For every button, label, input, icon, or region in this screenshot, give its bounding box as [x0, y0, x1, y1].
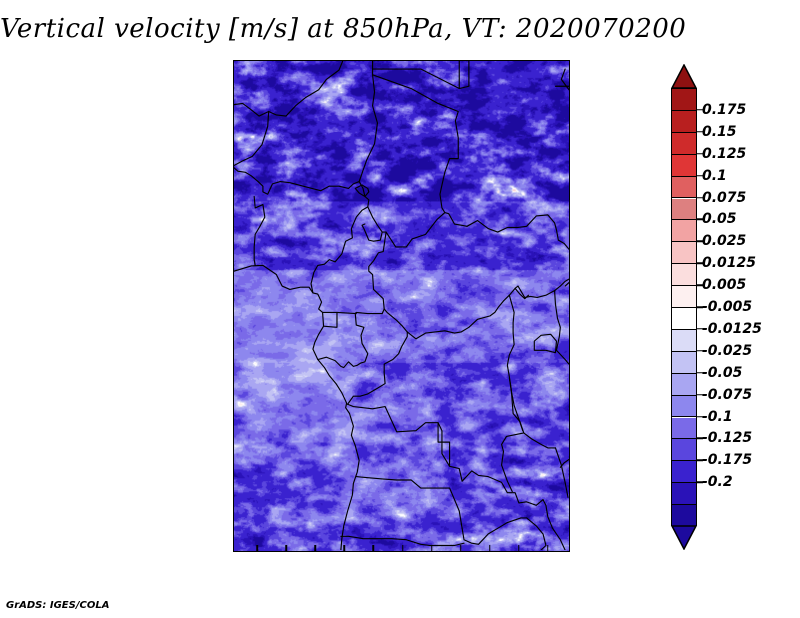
colorbar-tick-label: -0.175 — [702, 452, 752, 468]
colorbar-tick-label: -0.0125 — [702, 321, 762, 337]
colorbar-segment — [672, 220, 696, 242]
lon-tick-mark — [518, 545, 520, 551]
colorbar-segment — [672, 89, 696, 111]
lon-tick-mark — [431, 545, 433, 551]
colorbar-tick-label: 0.15 — [702, 124, 737, 140]
colorbar-tick-mark — [697, 438, 703, 440]
lat-tick-mark — [233, 340, 234, 342]
colorbar-tick-label: -0.075 — [702, 387, 752, 403]
colorbar-tick-label: 0.125 — [702, 146, 746, 162]
lon-tick-mark — [344, 545, 346, 551]
colorbar-segment — [672, 308, 696, 330]
colorbar-segment — [672, 374, 696, 396]
lat-tick-mark — [233, 513, 234, 515]
colorbar: 0.1750.150.1250.10.0750.050.0250.01250.0… — [671, 64, 697, 550]
lon-tick-label: 33E — [534, 551, 562, 552]
grads-plot-window: Vertical velocity [m/s] at 850hPa, VT: 2… — [0, 0, 800, 618]
colorbar-tick-mark — [697, 241, 703, 243]
colorbar-segment — [672, 155, 696, 177]
lat-tick-mark — [233, 282, 234, 284]
colorbar-segment — [672, 439, 696, 461]
colorbar-tick-mark — [697, 416, 703, 418]
lon-tick-label: 24E — [447, 551, 475, 552]
colorbar-segment — [672, 286, 696, 308]
colorbar-tick-label: 0.005 — [702, 277, 746, 293]
lat-tick-mark — [233, 109, 234, 111]
colorbar-tick-mark — [697, 394, 703, 396]
colorbar-tick-label: -0.025 — [702, 343, 752, 359]
colorbar-segments — [671, 88, 697, 526]
colorbar-tick-label: -0.05 — [702, 365, 742, 381]
colorbar-tick-mark — [697, 481, 703, 483]
colorbar-tick-label: 0.175 — [702, 102, 746, 118]
colorbar-segment — [672, 418, 696, 440]
lat-tick-mark — [233, 224, 234, 226]
colorbar-tick-mark — [697, 109, 703, 111]
colorbar-tick-mark — [697, 350, 703, 352]
footer-credit: GrADS: IGES/COLA — [6, 600, 109, 611]
lat-tick-mark — [233, 455, 234, 457]
colorbar-segment — [672, 111, 696, 133]
colorbar-tick-mark — [697, 372, 703, 374]
colorbar-segment — [672, 242, 696, 264]
lon-tick-label: 30E — [505, 551, 533, 552]
colorbar-segment — [672, 352, 696, 374]
colorbar-segment — [672, 264, 696, 286]
lon-tick-label: 12E — [330, 551, 358, 552]
lon-tick-label: 3E — [248, 551, 267, 552]
colorbar-bottom-arrow-icon — [671, 525, 697, 550]
lon-tick-label: 6E — [277, 551, 296, 552]
lon-tick-mark — [460, 545, 462, 551]
lat-tick-mark — [233, 167, 234, 169]
colorbar-tick-mark — [697, 175, 703, 177]
colorbar-tick-mark — [697, 306, 703, 308]
colorbar-tick-mark — [697, 197, 703, 199]
colorbar-segment — [672, 330, 696, 352]
colorbar-tick-mark — [697, 284, 703, 286]
colorbar-tick-label: -0.125 — [702, 430, 752, 446]
colorbar-tick-label: 0.0125 — [702, 255, 756, 271]
map-plot-area: 20N15N10N5NEQ5S10S15S3E6E9E12E15E18E21E2… — [233, 60, 570, 552]
colorbar-tick-label: 0.075 — [702, 190, 746, 206]
lon-tick-label: 9E — [306, 551, 325, 552]
colorbar-segment — [672, 177, 696, 199]
colorbar-tick-mark — [697, 153, 703, 155]
colorbar-top-arrow-icon — [671, 64, 697, 89]
colorbar-tick-mark — [697, 262, 703, 264]
colorbar-segment — [672, 505, 696, 527]
colorbar-tick-label: 0.025 — [702, 233, 746, 249]
colorbar-tick-label: 0.1 — [702, 168, 727, 184]
lon-tick-label: 18E — [389, 551, 417, 552]
lon-tick-mark — [402, 545, 404, 551]
lon-tick-mark — [489, 545, 491, 551]
colorbar-segment — [672, 483, 696, 505]
country-borders-overlay — [234, 61, 569, 550]
colorbar-segment — [672, 461, 696, 483]
lat-tick-mark — [233, 397, 234, 399]
colorbar-tick-mark — [697, 131, 703, 133]
colorbar-tick-label: -0.2 — [702, 474, 733, 490]
lon-tick-mark — [547, 545, 549, 551]
colorbar-segment — [672, 133, 696, 155]
colorbar-tick-label: 0.05 — [702, 211, 737, 227]
lon-tick-label: 15E — [359, 551, 387, 552]
lon-tick-label: 21E — [418, 551, 446, 552]
lon-tick-label: 27E — [476, 551, 504, 552]
colorbar-tick-label: -0.005 — [702, 299, 752, 315]
colorbar-tick-mark — [697, 328, 703, 330]
lon-tick-mark — [373, 545, 375, 551]
lon-tick-mark — [256, 545, 258, 551]
colorbar-tick-mark — [697, 219, 703, 221]
colorbar-tick-mark — [697, 460, 703, 462]
colorbar-segment — [672, 396, 696, 418]
page-title: Vertical velocity [m/s] at 850hPa, VT: 2… — [0, 14, 660, 44]
colorbar-tick-label: -0.1 — [702, 409, 733, 425]
colorbar-segment — [672, 199, 696, 221]
lon-tick-mark — [286, 545, 288, 551]
lon-tick-mark — [315, 545, 317, 551]
